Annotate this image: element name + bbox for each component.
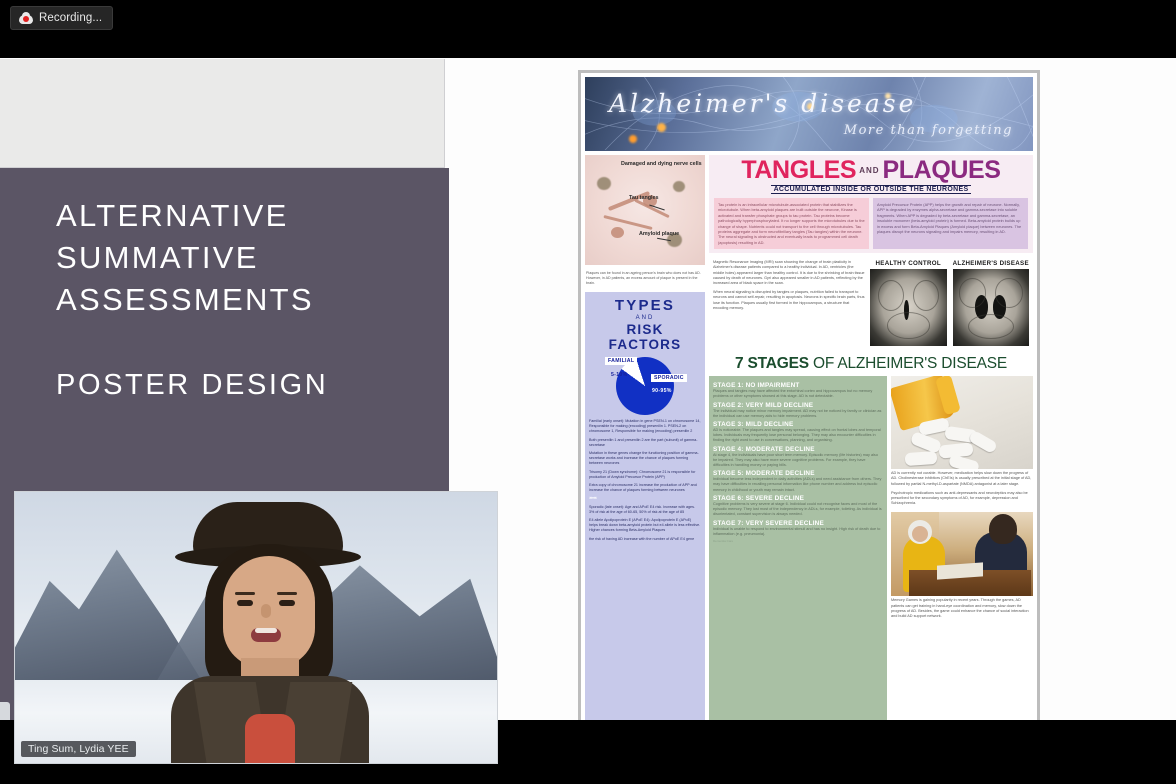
treatment-paragraph-3: Memory Games is gaining popularity in re… — [891, 598, 1033, 619]
pie-value-familial: 5-10% — [611, 372, 628, 378]
stages-columns: STAGE 1: NO IMPAIRMENT Plaques and tangl… — [709, 376, 1033, 720]
types-paragraph: E4 allele Apolipoprotein E (APoE E4): Ap… — [589, 518, 701, 534]
types-paragraph: Trisomy 21 (Down syndrome): Chromosome 2… — [589, 470, 701, 480]
pie-value-sporadic: 90-95% — [652, 388, 672, 394]
types-pie-chart: FAMILIAL 5-10% SPORADIC 90-95% — [589, 355, 701, 417]
poster-right-column: TANGLESANDPLAQUES ACCUMULATED INSIDE OR … — [709, 155, 1033, 720]
micrograph-caption: Plaques can be found in an ageing person… — [585, 269, 705, 288]
stage-body: Plaques and tangles may have affected th… — [713, 389, 883, 399]
pie-graphic — [616, 357, 674, 415]
types-paragraph: Mutation in these genes change the funct… — [589, 451, 701, 467]
mri-scan-healthy-image — [870, 269, 947, 346]
poster-title: Alzheimer's disease — [609, 89, 916, 118]
treatment-column: AD is currently not curable. However, me… — [891, 376, 1033, 720]
memory-game-image — [891, 512, 1033, 596]
tangles-title-and: AND — [859, 166, 879, 175]
tangles-plaques-section: TANGLESANDPLAQUES ACCUMULATED INSIDE OR … — [709, 155, 1033, 253]
mri-images: HEALTHY CONTROL — [870, 260, 1029, 346]
stage-body: At stage 4, the individuals have poor sh… — [713, 453, 883, 469]
stage-heading: STAGE 5: MODERATE DECLINE — [713, 470, 883, 477]
plaques-title-word: PLAQUES — [883, 156, 1001, 184]
types-paragraph: the risk of having AD increase with the … — [589, 537, 701, 542]
types-heading-and: AND — [589, 315, 701, 321]
types-paragraph: Sporadic (late onset): Age and APoE E4 r… — [589, 505, 701, 515]
stages-title-bold: 7 STAGES — [735, 355, 809, 372]
mri-paragraph-2: When neural signaling is disrupted by ta… — [713, 290, 865, 311]
poster-header-banner: Alzheimer's disease More than forgetting — [585, 77, 1033, 151]
pie-label-familial: FAMILIAL — [605, 357, 637, 365]
mri-section: Magnetic Resonance Imaging (MRI) scan sh… — [709, 257, 1033, 349]
poster-subtitle: More than forgetting — [844, 123, 1013, 138]
types-risk-factors-section: TYPES AND RISK FACTORS FAMILIAL 5-10% SP… — [585, 292, 705, 720]
types-heading: TYPES — [589, 297, 701, 314]
tangles-plaques-columns: Tau protein is an intracellular microtub… — [714, 198, 1028, 249]
risk-factors-heading: RISK FACTORS — [589, 322, 701, 352]
stage-body: Individual become less independent in da… — [713, 477, 883, 493]
stage-heading: STAGE 6: SEVERE DECLINE — [713, 495, 883, 502]
stages-list: STAGE 1: NO IMPAIRMENT Plaques and tangl… — [709, 376, 887, 720]
share-side-handle[interactable] — [0, 702, 10, 720]
mri-paragraph-1: Magnetic Resonance Imaging (MRI) scan sh… — [713, 260, 865, 286]
mri-scan-alzheimers-image — [953, 269, 1030, 346]
tangles-title-word: TANGLES — [741, 156, 856, 184]
tau-protein-text: Tau protein is an intracellular microtub… — [714, 198, 869, 249]
amyloid-protein-text: Amyloid Precursor Protein (APP) helps th… — [873, 198, 1028, 249]
poster-inner: Alzheimer's disease More than forgetting — [581, 73, 1037, 720]
types-paragraph: Extra copy of chromosome 21 increase the… — [589, 483, 701, 493]
stages-title-rest: OF ALZHEIMER'S DISEASE — [809, 355, 1007, 372]
recording-indicator[interactable]: Recording... — [10, 6, 113, 30]
neuron-micrograph-image: Damaged and dying nerve cells Tau tangle… — [585, 155, 705, 265]
mri-description: Magnetic Resonance Imaging (MRI) scan sh… — [713, 260, 865, 346]
types-body-text: Familial (early onset): Mutation in gene… — [589, 419, 701, 545]
types-paragraph: Both presenilin 1 and presenilin 2 are t… — [589, 438, 701, 448]
blank-panel — [0, 59, 445, 168]
poster-body: Damaged and dying nerve cells Tau tangle… — [585, 151, 1033, 720]
stage-heading: STAGE 7: VERY SEVERE DECLINE — [713, 520, 883, 527]
participant-name-label: Ting Sum, Lydia YEE — [21, 741, 136, 757]
mri-healthy-control: HEALTHY CONTROL — [870, 260, 947, 346]
stages-source-note: Dementia Care — [713, 539, 883, 543]
stage-body: AD is noticeable. The plaques and tangle… — [713, 428, 883, 444]
micrograph-label-amyloid-plaque: Amyloid plaque — [639, 231, 679, 238]
participant-video-tile[interactable]: Ting Sum, Lydia YEE — [14, 491, 498, 764]
recording-label: Recording... — [39, 12, 102, 24]
micrograph-label-tau-tangles: Tau tangles — [629, 195, 659, 202]
participant-figure — [165, 500, 375, 764]
tangles-plaques-subtitle: ACCUMULATED INSIDE OR OUTSIDE THE NEURON… — [771, 185, 972, 194]
treatment-description: AD is currently not curable. However, me… — [891, 471, 1033, 510]
stage-heading: STAGE 3: MILD DECLINE — [713, 421, 883, 428]
stage-heading: STAGE 4: MODERATE DECLINE — [713, 446, 883, 453]
treatment-paragraph-2: Psychotropic medications such as anti-de… — [891, 491, 1033, 507]
seven-stages-section: 7 STAGES OF ALZHEIMER'S DISEASE STAGE 1:… — [709, 353, 1033, 720]
pie-label-sporadic: SPORADIC — [651, 374, 687, 382]
stage-body: The individual may notice minor memory i… — [713, 409, 883, 419]
mri-alzheimers: ALZHEIMER'S DISEASE — [953, 260, 1030, 346]
tangles-plaques-title: TANGLESANDPLAQUES — [714, 158, 1028, 183]
stages-title: 7 STAGES OF ALZHEIMER'S DISEASE — [709, 353, 1033, 376]
types-paragraph: Familial (early onset): Mutation in gene… — [589, 419, 701, 435]
stage-body: Cognitive problems is very severe at sta… — [713, 502, 883, 518]
micrograph-label-nerve-cells: Damaged and dying nerve cells — [621, 161, 702, 168]
medication-pills-image — [891, 376, 1033, 469]
stage-body: Individual is unable to respond to envir… — [713, 527, 883, 537]
stage-heading: STAGE 1: NO IMPAIRMENT — [713, 382, 883, 389]
chevron-divider-icon: >>> <<< — [589, 496, 701, 501]
poster-left-column: Damaged and dying nerve cells Tau tangle… — [585, 155, 705, 720]
stage-heading: STAGE 2: VERY MILD DECLINE — [713, 402, 883, 409]
memory-game-caption: Memory Games is gaining popularity in re… — [891, 598, 1033, 623]
poster-image[interactable]: Alzheimer's disease More than forgetting — [578, 70, 1040, 720]
zoom-meeting-window: Recording... ALTERNATIVE SUMMATIVE ASSES… — [0, 0, 1176, 784]
slide-title: ALTERNATIVE SUMMATIVE ASSESSMENTS — [56, 195, 314, 321]
recording-cloud-icon — [19, 11, 33, 25]
treatment-paragraph-1: AD is currently not curable. However, me… — [891, 471, 1033, 487]
slide-subtitle: POSTER DESIGN — [56, 369, 328, 402]
mri-caption-healthy: HEALTHY CONTROL — [870, 260, 947, 267]
mri-caption-alzheimers: ALZHEIMER'S DISEASE — [953, 260, 1030, 267]
